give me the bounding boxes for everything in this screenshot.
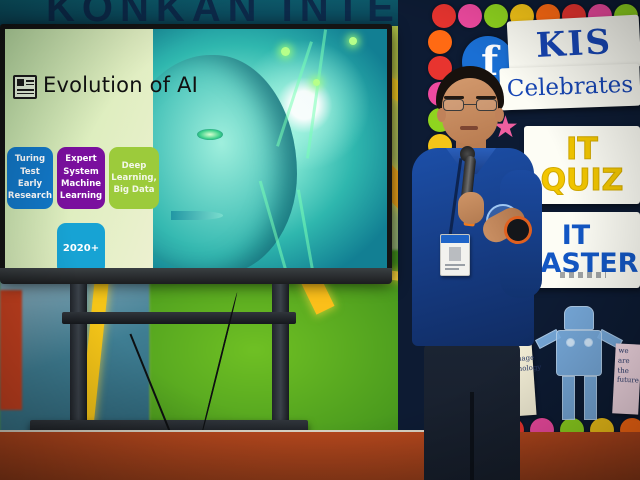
slide-title: Evolution of AI xyxy=(43,73,198,97)
slide-content: Evolution of AI Turing Test Early Resear… xyxy=(5,29,387,273)
robot-drawing xyxy=(540,306,616,424)
mural-red-slab xyxy=(0,290,22,410)
sign-kis-text: KIS xyxy=(535,22,613,66)
pom-pom xyxy=(432,4,456,28)
venue-banner-text: KONKAN INTER xyxy=(46,0,430,26)
slide-card-deep: Deep Learning, Big Data xyxy=(109,147,159,209)
slide-card-turing: Turing Test Early Research xyxy=(7,147,53,209)
presenter-mouth xyxy=(460,126,478,130)
pom-pom xyxy=(458,4,482,28)
presenter-face xyxy=(442,78,498,144)
eyeglasses xyxy=(443,99,497,111)
presenter-hand xyxy=(458,192,484,224)
article-icon xyxy=(13,75,37,99)
venue-banner: KONKAN INTER xyxy=(0,0,430,26)
display-brand-mark xyxy=(560,272,606,278)
ai-face-image xyxy=(153,29,387,273)
board-note-right: we are the future xyxy=(612,343,640,414)
id-badge xyxy=(440,234,470,276)
slide-card-2020: 2020+ xyxy=(57,223,105,273)
presenter xyxy=(400,66,546,480)
slide-card-expert: Expert System Machine Learning xyxy=(57,147,105,209)
photo-scene: KONKAN INTER KIS Celebrates IT QUIZ IT M… xyxy=(0,0,640,480)
cart-leg xyxy=(70,284,87,434)
presenter-trousers xyxy=(424,342,520,480)
pom-pom xyxy=(428,30,452,54)
pom-pom xyxy=(484,4,508,28)
display-bezel xyxy=(0,268,392,284)
presentation-display: Evolution of AI Turing Test Early Resear… xyxy=(0,24,392,278)
cart-shelf xyxy=(62,312,296,324)
cart-leg xyxy=(272,284,289,434)
